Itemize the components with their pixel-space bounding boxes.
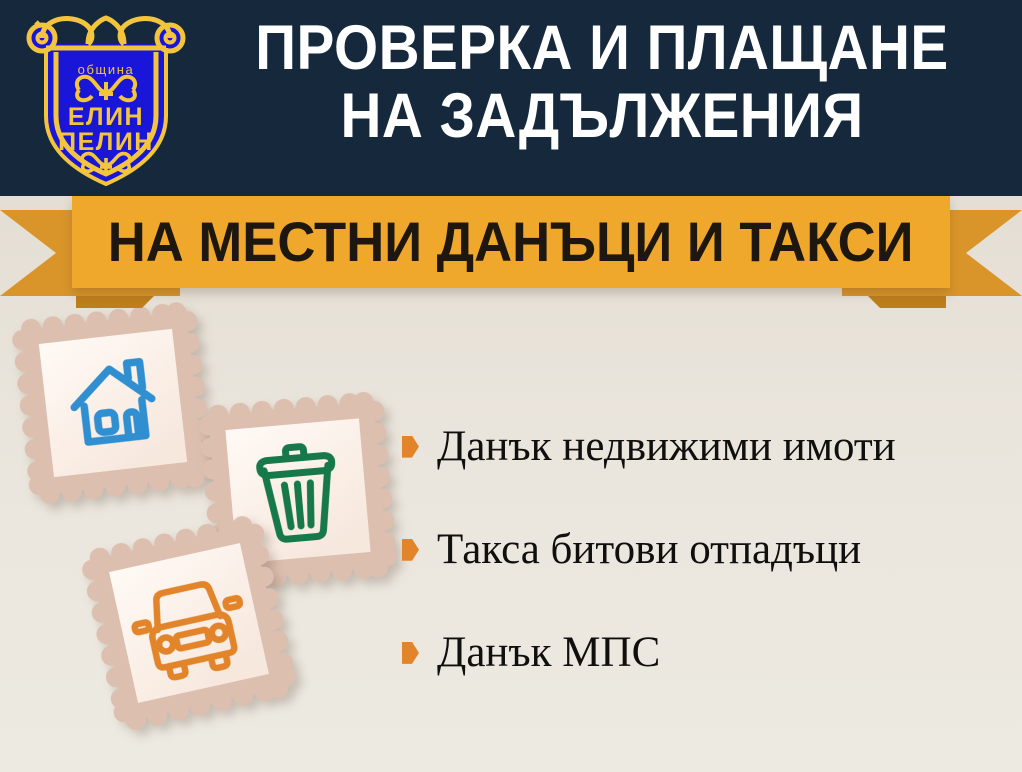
title-line-1: ПРОВЕРКА И ПЛАЩАНЕ [233,18,971,80]
ribbon-fold-right [868,296,946,308]
list-item-label: Такса битови отпадъци [437,527,861,572]
arrow-bullet-icon [402,436,419,458]
tax-type-list: Данък недвижими имоти Такса битови отпад… [402,424,1012,675]
arrow-bullet-icon [402,642,419,664]
poster-canvas: община ЕЛИН ПЕЛИН [0,0,1022,772]
svg-text:община: община [78,62,135,77]
list-item-label: Данък недвижими имоти [437,424,896,469]
list-item-label: Данък МПС [437,630,660,675]
page-title: ПРОВЕРКА И ПЛАЩАНЕ НА ЗАДЪЛЖЕНИЯ [192,18,1012,147]
ribbon-fold-left [76,296,154,308]
svg-text:ПЕЛИН: ПЕЛИН [58,128,154,156]
stamp-vehicle [76,510,303,737]
list-item[interactable]: Данък МПС [402,630,1012,675]
svg-text:ЕЛИН: ЕЛИН [68,103,144,131]
header-band: община ЕЛИН ПЕЛИН [0,0,1022,196]
list-item[interactable]: Данък недвижими имоти [402,424,1012,469]
arrow-bullet-icon [402,539,419,561]
list-item[interactable]: Такса битови отпадъци [402,527,1012,572]
ribbon-label: НА МЕСТНИ ДАНЪЦИ И ТАКСИ [108,214,914,270]
stamp-property [8,298,218,508]
title-line-2: НА ЗАДЪЛЖЕНИЯ [233,86,971,148]
stamp-group [0,296,430,766]
ribbon-panel: НА МЕСТНИ ДАНЪЦИ И ТАКСИ [72,196,950,288]
subtitle-ribbon: НА МЕСТНИ ДАНЪЦИ И ТАКСИ [0,196,1022,308]
coat-of-arms-icon: община ЕЛИН ПЕЛИН [22,8,190,190]
